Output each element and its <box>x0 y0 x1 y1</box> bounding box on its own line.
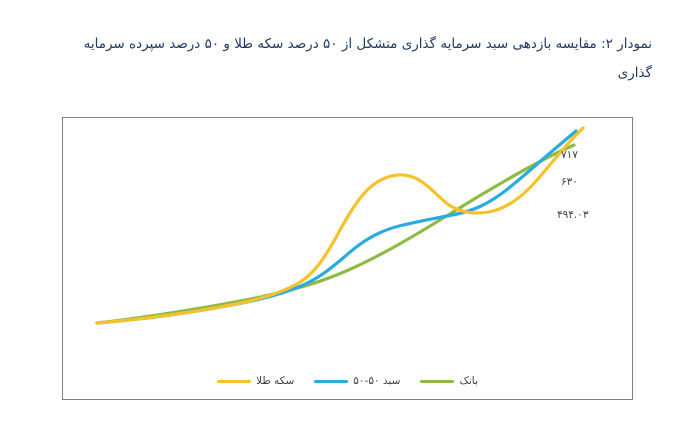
plot-canvas <box>63 118 632 399</box>
legend-swatch-basket <box>314 380 348 383</box>
series-line-gold <box>97 128 583 323</box>
page-title: نمودار ۲: مقایسه بازدهی سبد سرمایه گذاری… <box>48 30 652 88</box>
legend-item-basket[interactable]: سبد ۵۰-۵۰ <box>314 375 400 387</box>
legend-item-bank[interactable]: بانک <box>420 375 477 387</box>
legend-label-basket: سبد ۵۰-۵۰ <box>353 375 400 387</box>
end-label-basket: ۶۳۰ <box>561 176 578 188</box>
end-label-gold: ۷۱۷ <box>561 149 578 161</box>
legend-swatch-bank <box>420 380 454 383</box>
series-line-basket <box>97 131 576 323</box>
chart-legend: سکه طلا سبد ۵۰-۵۰ بانک <box>62 370 633 392</box>
chart-figure: نمودار ۲: مقایسه بازدهی سبد سرمایه گذاری… <box>0 0 697 447</box>
legend-label-gold: سکه طلا <box>256 375 294 387</box>
legend-swatch-gold <box>217 380 251 383</box>
end-label-bank: ۴۹۴.۰۳ <box>557 209 589 221</box>
legend-label-bank: بانک <box>459 375 477 387</box>
legend-item-gold[interactable]: سکه طلا <box>217 375 294 387</box>
series-line-bank <box>97 145 574 323</box>
